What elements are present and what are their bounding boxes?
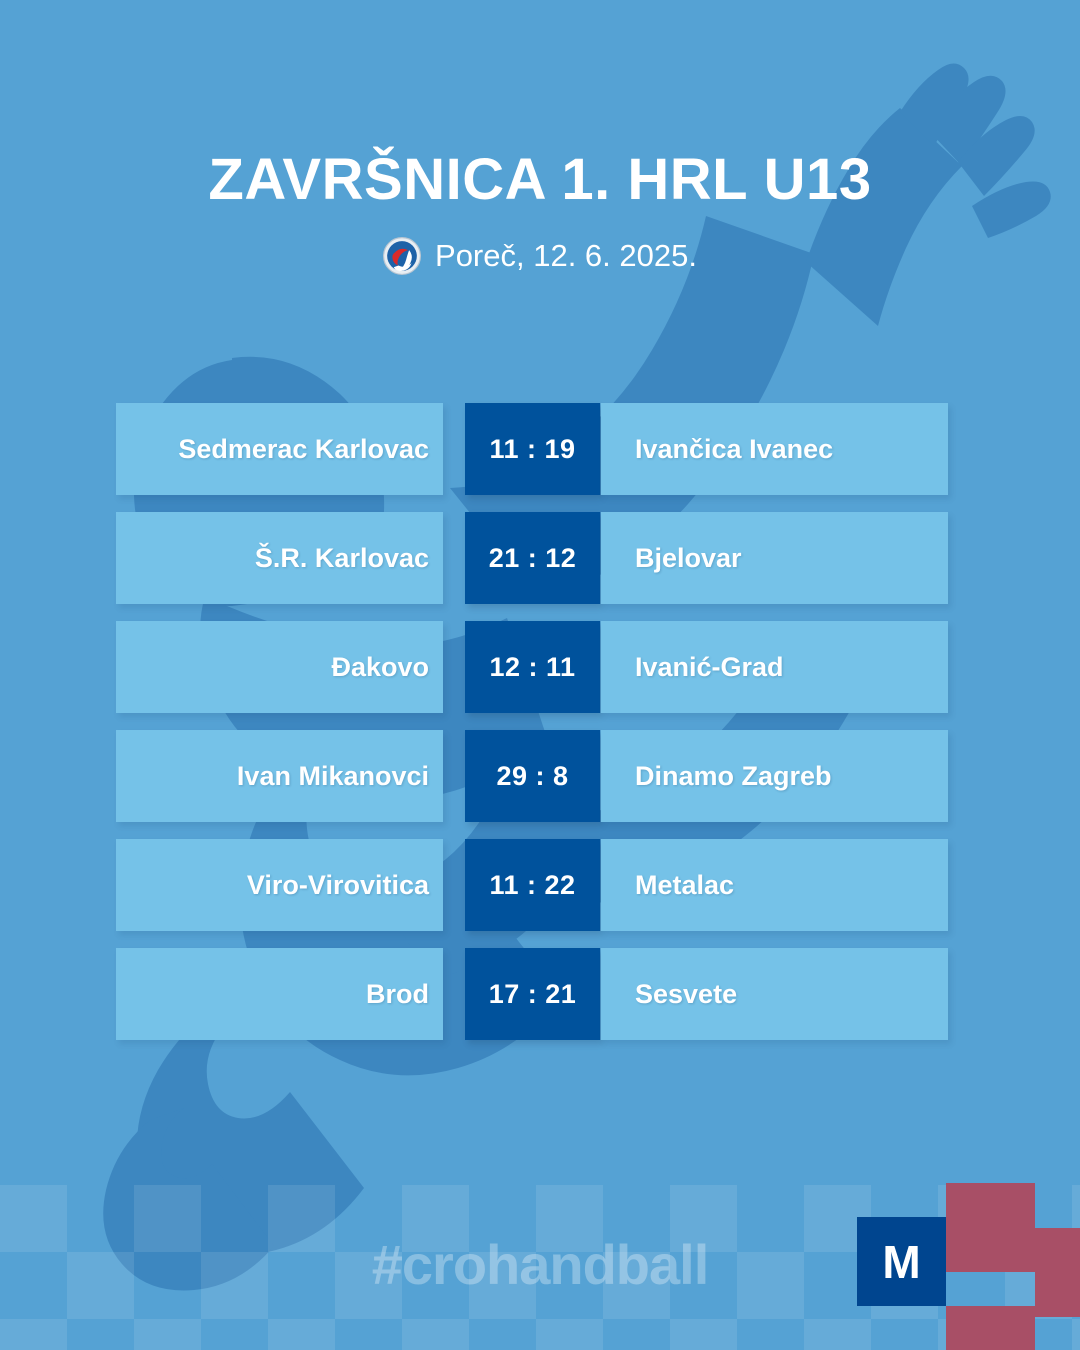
checker-square [335, 1252, 402, 1319]
brand-logo-red-square-3 [946, 1306, 1035, 1350]
match-row: Š.R. Karlovac21 : 12Bjelovar [0, 512, 1080, 621]
checker-square [536, 1185, 603, 1252]
event-subtitle: Poreč, 12. 6. 2025. [435, 238, 697, 274]
match-row: Ivan Mikanovci29 : 8Dinamo Zagreb [0, 730, 1080, 839]
checker-square [670, 1319, 737, 1350]
away-team-panel: Bjelovar [601, 512, 948, 604]
match-row: Sedmerac Karlovac11 : 19Ivančica Ivanec [0, 403, 1080, 512]
away-team-panel: Ivanić-Grad [601, 621, 948, 713]
away-team-name: Ivanić-Grad [635, 652, 784, 683]
away-team-panel: Dinamo Zagreb [601, 730, 948, 822]
checker-square [268, 1185, 335, 1252]
home-team-panel: Brod [116, 948, 443, 1040]
home-team-panel: Š.R. Karlovac [116, 512, 443, 604]
score-value: 17 : 21 [489, 979, 577, 1010]
match-row: Brod17 : 21Sesvete [0, 948, 1080, 1057]
checker-square [670, 1185, 737, 1252]
score-value: 11 : 22 [489, 870, 575, 901]
checker-square [536, 1319, 603, 1350]
checker-square [268, 1319, 335, 1350]
home-team-panel: Ivan Mikanovci [116, 730, 443, 822]
checker-square [737, 1252, 804, 1319]
match-results-list: Sedmerac Karlovac11 : 19Ivančica IvanecŠ… [0, 403, 1080, 1057]
checker-square [134, 1185, 201, 1252]
brand-logo: M [857, 1183, 1080, 1350]
croatian-handball-federation-logo-icon [383, 237, 421, 275]
score-box: 11 : 19 [465, 403, 600, 495]
score-box: 29 : 8 [465, 730, 600, 822]
score-value: 12 : 11 [489, 652, 575, 683]
away-team-name: Bjelovar [635, 543, 742, 574]
home-team-panel: Viro-Virovitica [116, 839, 443, 931]
checker-square [603, 1252, 670, 1319]
brand-logo-red-square-2 [1035, 1228, 1080, 1317]
brand-logo-monogram: M [857, 1217, 946, 1306]
away-team-name: Sesvete [635, 979, 737, 1010]
poster-canvas: ZAVRŠNICA 1. HRL U13 Poreč, 12. 6. 2025.… [0, 0, 1080, 1350]
home-team-panel: Sedmerac Karlovac [116, 403, 443, 495]
home-team-name: Sedmerac Karlovac [178, 434, 429, 465]
score-value: 21 : 12 [489, 543, 577, 574]
score-box: 12 : 11 [465, 621, 600, 713]
event-location-date: Poreč, 12. 6. 2025. [0, 237, 1080, 275]
checker-square [0, 1185, 67, 1252]
score-box: 21 : 12 [465, 512, 600, 604]
brand-logo-red-square-1 [946, 1183, 1035, 1272]
page-title: ZAVRŠNICA 1. HRL U13 [0, 150, 1080, 211]
poster-header: ZAVRŠNICA 1. HRL U13 Poreč, 12. 6. 2025. [0, 150, 1080, 275]
checker-square [0, 1319, 67, 1350]
away-team-name: Metalac [635, 870, 734, 901]
home-team-name: Š.R. Karlovac [255, 543, 429, 574]
home-team-panel: Đakovo [116, 621, 443, 713]
match-row: Đakovo12 : 11Ivanić-Grad [0, 621, 1080, 730]
score-box: 17 : 21 [465, 948, 600, 1040]
brand-logo-letter: M [882, 1235, 920, 1289]
home-team-name: Brod [366, 979, 429, 1010]
checker-square [402, 1185, 469, 1252]
match-row: Viro-Virovitica11 : 22Metalac [0, 839, 1080, 948]
checker-square [201, 1252, 268, 1319]
checker-square [67, 1252, 134, 1319]
home-team-name: Ivan Mikanovci [237, 761, 429, 792]
away-team-name: Dinamo Zagreb [635, 761, 832, 792]
home-team-name: Viro-Virovitica [247, 870, 429, 901]
away-team-panel: Ivančica Ivanec [601, 403, 948, 495]
checker-square [402, 1319, 469, 1350]
score-value: 29 : 8 [496, 761, 568, 792]
away-team-name: Ivančica Ivanec [635, 434, 833, 465]
checker-square [134, 1319, 201, 1350]
score-box: 11 : 22 [465, 839, 600, 931]
away-team-panel: Sesvete [601, 948, 948, 1040]
home-team-name: Đakovo [331, 652, 429, 683]
checker-square [469, 1252, 536, 1319]
score-value: 11 : 19 [489, 434, 575, 465]
away-team-panel: Metalac [601, 839, 948, 931]
